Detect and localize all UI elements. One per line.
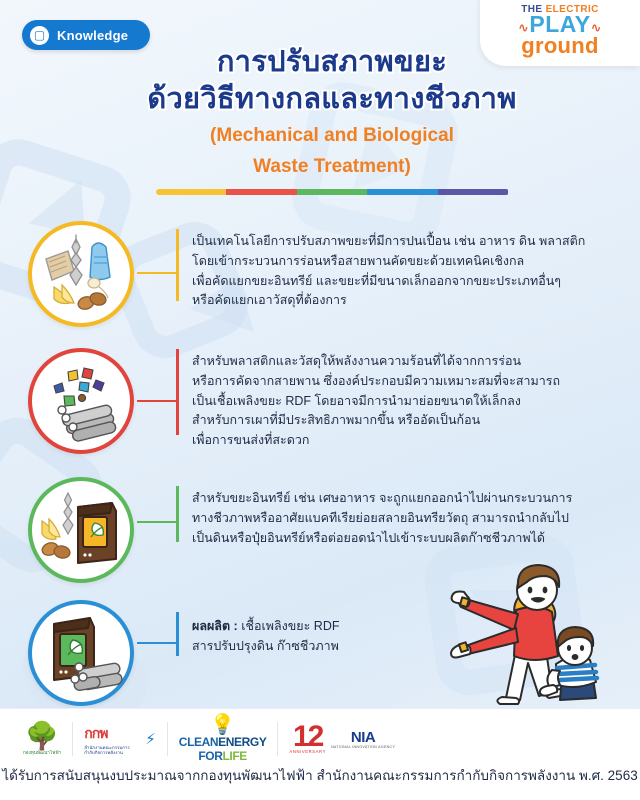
conservation-fund-logo: 🌳 กองทุนพัฒนาไฟฟ้า: [12, 717, 72, 761]
bracket-line: [176, 612, 179, 656]
title-english-line2: Waste Treatment): [24, 155, 640, 179]
section-text-line: สารปรับปรุงดิน ก๊าซชีวภาพ: [192, 637, 630, 657]
clean-energy-for-life-logo: 💡 CLEANENERGY FORLIFE: [168, 717, 278, 761]
products-icon: [28, 600, 134, 706]
bracket-line: [176, 229, 179, 301]
sponsor-logos: 🌳 กองทุนพัฒนาไฟฟ้า กกพ สำนักงานคณะกรรมกา…: [0, 709, 640, 765]
section-text: สำหรับขยะอินทรีย์ เช่น เศษอาหาร จะถูกแยก…: [192, 489, 630, 548]
connector-line: [137, 642, 177, 644]
erc-logo: กกพ สำนักงานคณะกรรมการ กำกับกิจการพลังงา…: [73, 717, 167, 761]
footer: 🌳 กองทุนพัฒนาไฟฟ้า กกพ สำนักงานคณะกรรมกา…: [0, 708, 640, 800]
section-text-line: ผลผลิต : เชื้อเพลิงขยะ RDF: [192, 617, 630, 637]
knowledge-badge[interactable]: ▢ Knowledge: [22, 20, 150, 50]
mixed-waste-icon: [28, 221, 134, 327]
anniversary-number: 12: [289, 725, 326, 749]
nia-mark: NIA: [331, 730, 395, 745]
energy-label: ENERGY: [218, 735, 266, 749]
section-text-line: ทางชีวภาพหรืออาศัยแบคทีเรียย่อยสลายอินทร…: [192, 509, 630, 529]
knowledge-badge-label: Knowledge: [57, 28, 128, 43]
section-text: เป็นเทคโนโลยีการปรับสภาพขยะที่มีการปนเปื…: [192, 232, 630, 311]
section-text-line: เป็นดินหรือปุ๋ยอินทรีย์หรือต่อยอดนำไปเข้…: [192, 529, 630, 549]
section-text-line: สำหรับการเผาที่มีประสิทธิภาพมากขึ้น หรือ…: [192, 411, 630, 431]
nia-12-anniversary-logo: 12 ANNIVERSARY NIA NATIONAL INNOVATION A…: [278, 717, 406, 761]
clean-label: CLEAN: [179, 735, 218, 749]
connector-line: [137, 272, 177, 274]
book-icon: ▢: [30, 26, 49, 45]
bracket-line: [176, 486, 179, 542]
funding-note: ได้รับการสนับสนุนงบประมาณจากกองทุนพัฒนาไ…: [0, 765, 640, 785]
section-text-line: เป็นเทคโนโลยีการปรับสภาพขยะที่มีการปนเปื…: [192, 232, 630, 252]
section-text-label: ผลผลิต :: [192, 619, 238, 633]
erc-caption: สำนักงานคณะกรรมการ กำกับกิจการพลังงาน: [84, 745, 140, 756]
page-title: การปรับสภาพขยะ ด้วยวิธีทางกลและทางชีวภาพ…: [0, 44, 640, 195]
connector-line: [137, 521, 177, 523]
color-segment-1: [226, 189, 297, 195]
color-segment-3: [367, 189, 438, 195]
color-segment-0: [156, 189, 227, 195]
color-segment-2: [297, 189, 368, 195]
section-text-line: สำหรับพลาสติกและวัสดุให้พลังงานความร้อนท…: [192, 352, 630, 372]
erc-mark: กกพ: [84, 723, 140, 745]
section-text: ผลผลิต : เชื้อเพลิงขยะ RDFสารปรับปรุงดิน…: [192, 617, 630, 657]
lightbulb-icon: 💡: [179, 715, 267, 735]
section-text-line: โดยเข้ากระบวนการร่อนหรือสายพานคัดขยะด้วย…: [192, 252, 630, 272]
section-text-line: เพื่อการขนส่งที่สะดวก: [192, 431, 630, 451]
connector-line: [137, 400, 177, 402]
anniversary-label: ANNIVERSARY: [289, 749, 326, 754]
section-text: สำหรับพลาสติกและวัสดุให้พลังงานความร้อนท…: [192, 352, 630, 451]
section-text-line: หรือคัดแยกเอาวัสดุที่ต้องการ: [192, 291, 630, 311]
compost-bag-icon: [28, 477, 134, 583]
section-text-line: หรือการคัดจากสายพาน ซึ่งองค์ประกอบมีความ…: [192, 372, 630, 392]
title-english-line1: (Mechanical and Biological: [24, 124, 640, 148]
color-segment-4: [438, 189, 509, 195]
title-thai-line2: ด้วยวิธีทางกลและทางชีวภาพ: [24, 81, 640, 118]
for-label: FOR: [198, 749, 222, 763]
clean-energy-line1: CLEANENERGY: [179, 735, 267, 749]
life-label: LIFE: [222, 749, 246, 763]
color-divider-bar: [156, 189, 509, 195]
conservation-fund-caption: กองทุนพัฒนาไฟฟ้า: [23, 750, 61, 755]
lightning-bolt-icon: ⚡: [145, 730, 156, 748]
brand-ground: ground: [480, 36, 640, 56]
rdf-pellets-icon: [28, 348, 134, 454]
section-text-line: เพื่อคัดแยกขยะอินทรีย์ และขยะที่มีขนาดเล…: [192, 272, 630, 292]
bracket-line: [176, 349, 179, 435]
section-text-line: สำหรับขยะอินทรีย์ เช่น เศษอาหาร จะถูกแยก…: [192, 489, 630, 509]
brand-logo: THE ELECTRIC ∿PLAY∿ ground: [480, 0, 640, 66]
clean-energy-line2: FORLIFE: [179, 749, 267, 763]
tree-icon: 🌳: [23, 723, 61, 750]
section-text-line: เป็นเชื้อเพลิงขยะ RDF โดยอาจมีการนำมาย่อ…: [192, 392, 630, 412]
nia-subtitle: NATIONAL INNOVATION AGENCY: [331, 745, 395, 749]
